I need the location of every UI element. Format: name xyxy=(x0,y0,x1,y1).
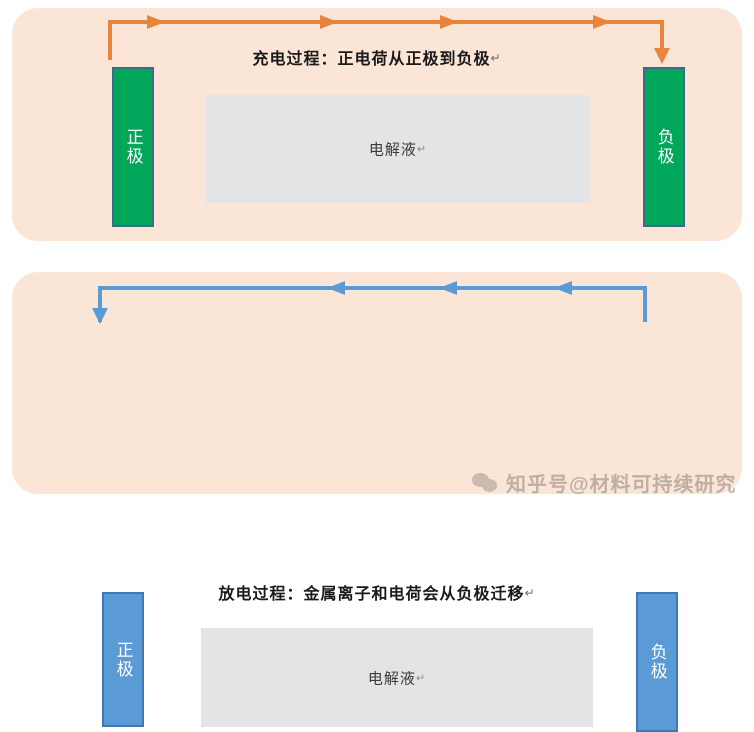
electrolyte-label-charge: 电解液↵ xyxy=(206,139,590,160)
enter-mark: ↵ xyxy=(416,672,426,684)
electrolyte-box-charge: 电解液↵ xyxy=(206,95,590,203)
caption-discharge: 放电过程：金属离子和电荷会从负极迁移↵ xyxy=(12,580,742,604)
discharge-panel: 电解液↵ 正极 负极 放电过程：金属离子和电荷会从负极迁移↵ xyxy=(12,272,742,494)
electrode-positive-discharge[interactable]: 正极 xyxy=(102,592,144,727)
charge-panel: 电解液↵ 正极 负极 充电过程：正电荷从正极到负极↵ xyxy=(12,8,742,241)
electrode-negative-charge[interactable]: 负极 xyxy=(643,67,685,227)
electrode-positive-charge[interactable]: 正极 xyxy=(112,67,154,227)
watermark-text: 知乎号@材料可持续研究 xyxy=(506,468,737,497)
enter-mark: ↵ xyxy=(524,586,535,600)
caption-charge: 充电过程：正电荷从正极到负极↵ xyxy=(12,45,742,69)
enter-mark: ↵ xyxy=(417,144,427,156)
electrode-negative-discharge[interactable]: 负极 xyxy=(636,592,678,732)
watermark: 知乎号@材料可持续研究 xyxy=(472,468,737,497)
electrode-label-positive-charge: 正极 xyxy=(122,128,143,166)
wechat-bubbles-icon xyxy=(472,472,499,494)
electrode-label-positive-discharge: 正极 xyxy=(112,641,133,679)
figure-canvas: 电解液↵ 正极 负极 充电过程：正电荷从正极到负极↵ 电解液↵ 正极 负极 放电… xyxy=(0,0,754,510)
electrode-label-negative-discharge: 负极 xyxy=(646,643,667,681)
enter-mark: ↵ xyxy=(490,51,501,65)
electrode-label-negative-charge: 负极 xyxy=(653,128,674,166)
electrolyte-label-discharge: 电解液↵ xyxy=(201,667,593,688)
electrolyte-box-discharge: 电解液↵ xyxy=(201,628,593,727)
